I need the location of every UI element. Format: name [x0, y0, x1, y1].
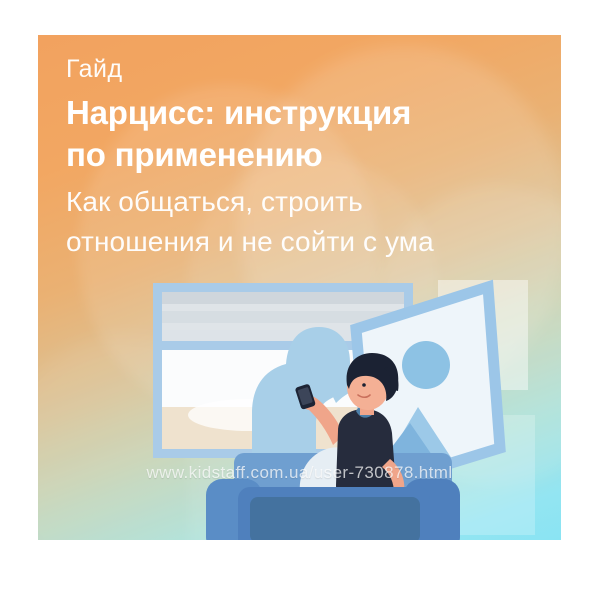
- title-line-2: по применению: [66, 134, 546, 176]
- sofa-cushion: [250, 497, 420, 540]
- kicker-label: Гайд: [66, 57, 546, 82]
- person-eye: [362, 383, 366, 387]
- window-frame-top: [153, 283, 413, 292]
- subtitle-line-1: Как общаться, строить: [66, 182, 546, 222]
- poster-subtitle: Как общаться, строить отношения и не сой…: [66, 182, 546, 262]
- subtitle-line-2: отношения и не сойти с ума: [66, 222, 546, 262]
- poster-card: Гайд Нарцисс: инструкция по применению К…: [38, 35, 561, 540]
- window-frame-left: [153, 283, 162, 458]
- poster-text-block: Гайд Нарцисс: инструкция по применению К…: [66, 57, 546, 262]
- sofa-front: [173, 479, 483, 540]
- poster-title: Нарцисс: инструкция по применению: [66, 92, 546, 176]
- watermark-url: www.kidstaff.com.ua/user-730878.html: [38, 463, 561, 483]
- title-line-1: Нарцисс: инструкция: [66, 92, 546, 134]
- picture-sun: [402, 341, 450, 389]
